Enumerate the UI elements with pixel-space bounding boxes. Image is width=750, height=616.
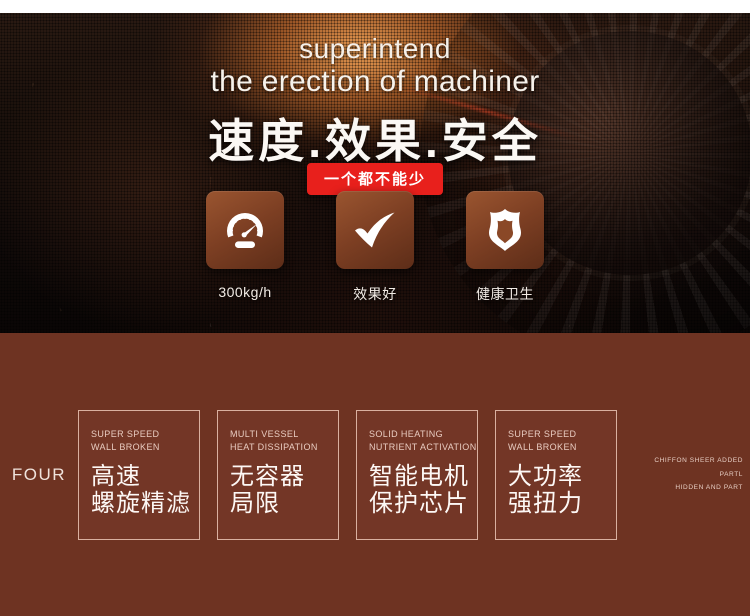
feature-tile-health[interactable]: 健康卫生 xyxy=(466,191,544,304)
feature-card-chinese-line1: 无容器 xyxy=(230,463,338,491)
feature-card-chinese: 无容器 局限 xyxy=(230,463,338,519)
feature-tile-icon-box xyxy=(206,191,284,269)
feature-card-english-line1: SOLID HEATING xyxy=(369,429,443,439)
feature-card-chinese-line1: 智能电机 xyxy=(369,463,477,491)
features-panel: FOUR SUPER SPEED WALL BROKEN 高速 螺旋精滤 MUL… xyxy=(0,333,750,616)
feature-card-english-line1: SUPER SPEED xyxy=(508,429,576,439)
panel-side-note-line2: HIDDEN AND PART xyxy=(675,484,743,491)
top-white-strip xyxy=(0,0,750,13)
feature-tile-label: 300kg/h xyxy=(206,284,284,300)
feature-card-chinese-line2: 螺旋精滤 xyxy=(91,490,199,518)
hero-eyebrow: superintend xyxy=(0,33,750,65)
feature-card-chinese: 高速 螺旋精滤 xyxy=(91,463,199,519)
feature-tile-label: 效果好 xyxy=(336,284,414,304)
feature-card-chinese-line2: 强扭力 xyxy=(508,490,616,518)
checkmark-icon xyxy=(349,204,401,256)
hero-headline-chinese: 速度.效果.安全 xyxy=(0,105,750,171)
shield-icon xyxy=(479,204,531,256)
promo-page: superintend the erection of machiner 速度.… xyxy=(0,0,750,616)
feature-card[interactable]: MULTI VESSEL HEAT DISSIPATION 无容器 局限 xyxy=(217,410,339,540)
hero-headline-english: the erection of machiner xyxy=(0,65,750,99)
feature-card[interactable]: SOLID HEATING NUTRIENT ACTIVATION 智能电机 保… xyxy=(356,410,478,540)
feature-card-english-line2: NUTRIENT ACTIVATION xyxy=(369,442,477,452)
feature-card-chinese-line2: 局限 xyxy=(230,490,338,518)
feature-card[interactable]: SUPER SPEED WALL BROKEN 高速 螺旋精滤 xyxy=(78,410,200,540)
feature-card-chinese-line1: 大功率 xyxy=(508,463,616,491)
speedometer-icon xyxy=(219,204,271,256)
feature-card-english: SUPER SPEED WALL BROKEN xyxy=(91,428,199,454)
feature-card-chinese: 大功率 强扭力 xyxy=(508,463,616,519)
feature-tiles: 300kg/h 效果好 xyxy=(0,191,750,304)
hero-banner: superintend the erection of machiner 速度.… xyxy=(0,13,750,333)
feature-card-english-line2: WALL BROKEN xyxy=(91,442,160,452)
feature-tile-label: 健康卫生 xyxy=(466,284,544,304)
feature-card-english-line2: WALL BROKEN xyxy=(508,442,577,452)
feature-card-english: MULTI VESSEL HEAT DISSIPATION xyxy=(230,428,338,454)
feature-card[interactable]: SUPER SPEED WALL BROKEN 大功率 强扭力 xyxy=(495,410,617,540)
feature-card-english-line1: SUPER SPEED xyxy=(91,429,159,439)
feature-tile-icon-box xyxy=(336,191,414,269)
feature-tile-speed[interactable]: 300kg/h xyxy=(206,191,284,304)
feature-card-chinese: 智能电机 保护芯片 xyxy=(369,463,477,519)
feature-card-chinese-line1: 高速 xyxy=(91,463,199,491)
feature-card-chinese-line2: 保护芯片 xyxy=(369,490,477,518)
feature-card-english: SUPER SPEED WALL BROKEN xyxy=(508,428,616,454)
feature-tile-effect[interactable]: 效果好 xyxy=(336,191,414,304)
feature-card-english-line2: HEAT DISSIPATION xyxy=(230,442,318,452)
panel-side-note: CHIFFON SHEER ADDED PARTL HIDDEN AND PAR… xyxy=(635,454,743,495)
feature-card-list: SUPER SPEED WALL BROKEN 高速 螺旋精滤 MULTI VE… xyxy=(78,410,617,540)
feature-tile-icon-box xyxy=(466,191,544,269)
section-label-four: FOUR xyxy=(0,465,78,485)
feature-card-english-line1: MULTI VESSEL xyxy=(230,429,299,439)
feature-card-english: SOLID HEATING NUTRIENT ACTIVATION xyxy=(369,428,477,454)
panel-side-note-line1: CHIFFON SHEER ADDED PARTL xyxy=(654,457,743,478)
